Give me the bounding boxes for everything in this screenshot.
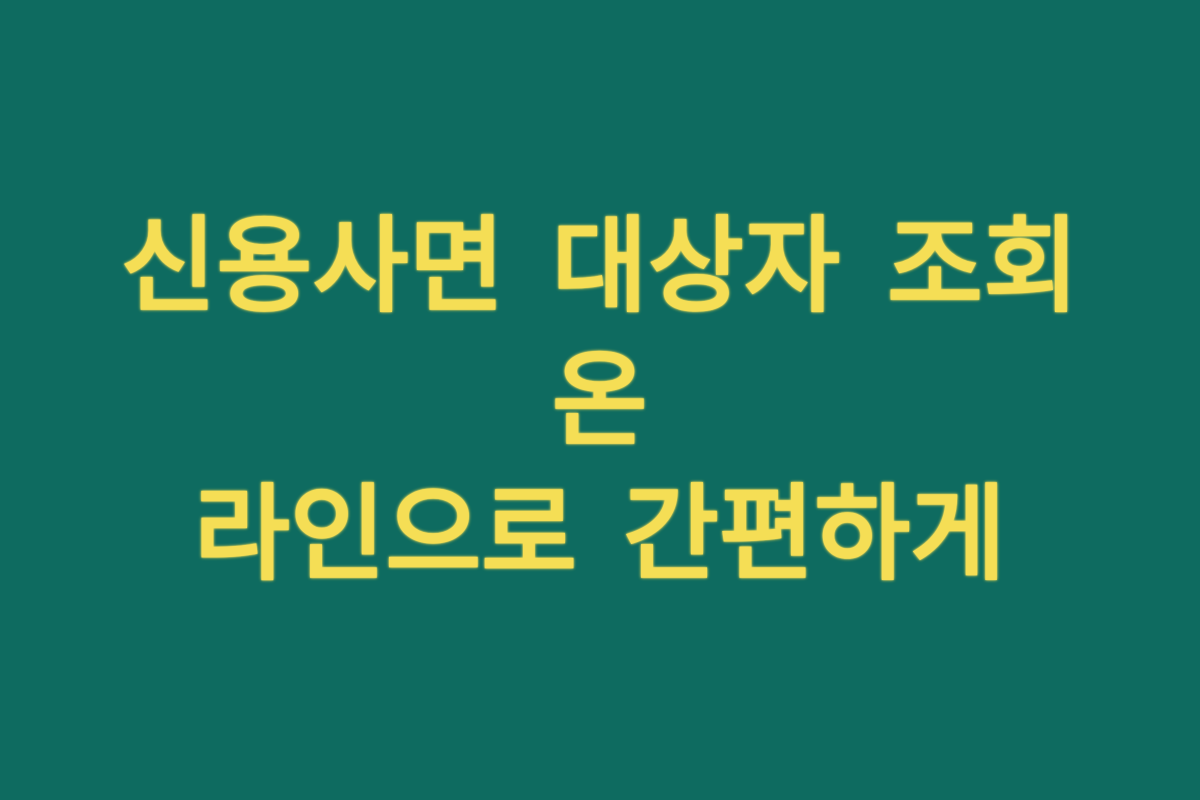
page-title-line-1: 신용사면 대상자 조회 온: [60, 199, 1140, 467]
title-card: 신용사면 대상자 조회 온 라인으로 간편하게: [0, 0, 1200, 800]
page-title-line-2: 라인으로 간편하게: [60, 467, 1140, 601]
page-title: 신용사면 대상자 조회 온 라인으로 간편하게: [60, 199, 1140, 601]
